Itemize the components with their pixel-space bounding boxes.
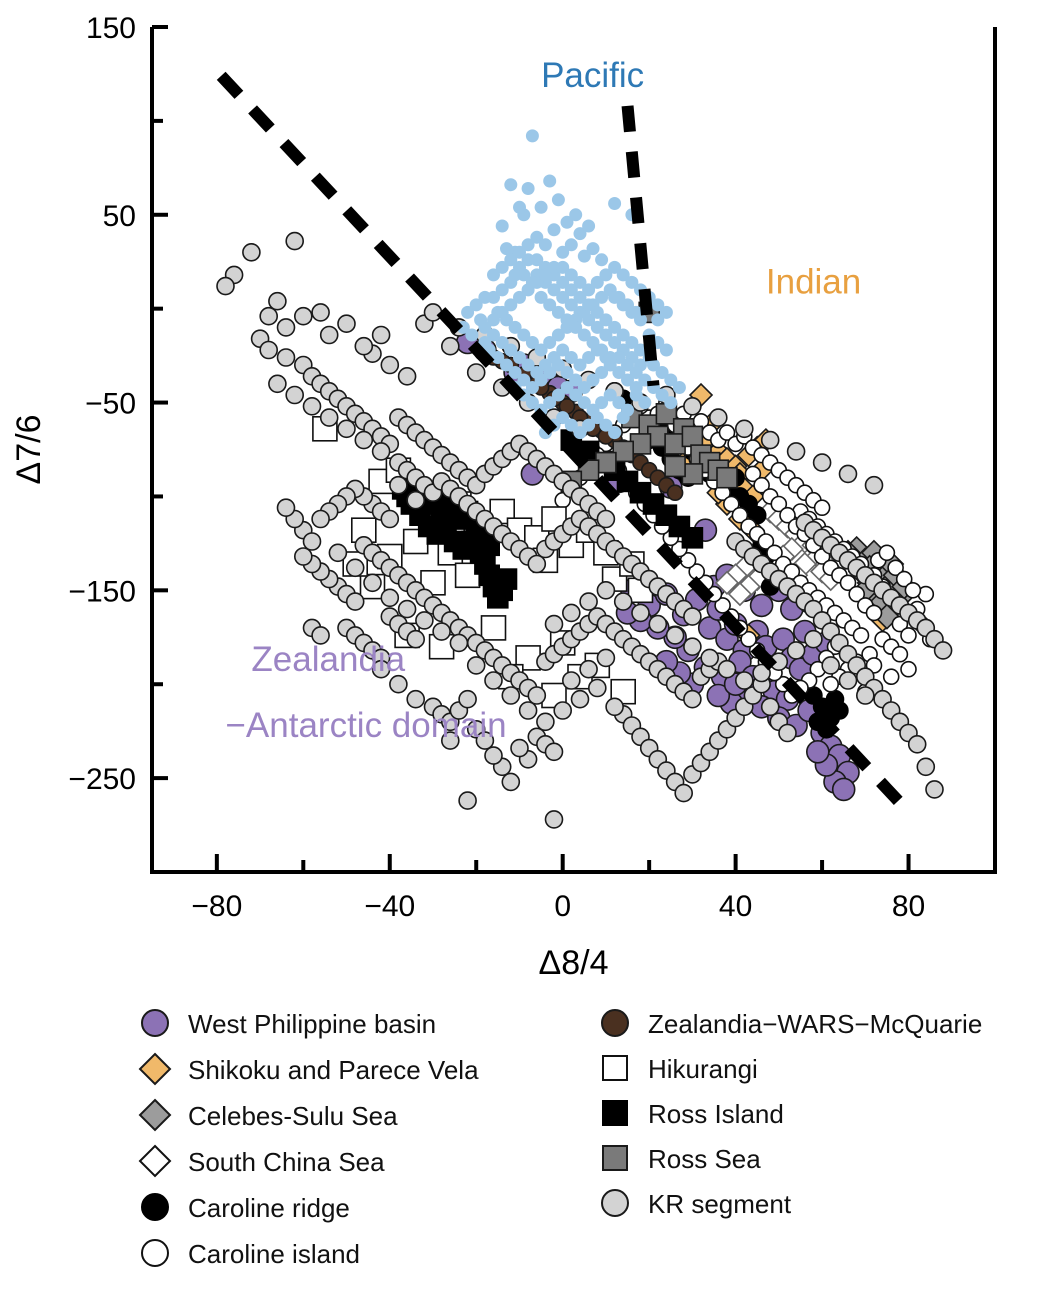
data-point xyxy=(321,327,338,344)
data-point xyxy=(554,702,571,719)
data-point xyxy=(487,313,500,326)
data-point xyxy=(416,612,433,629)
data-point xyxy=(884,669,899,684)
legend-label: Ross Sea xyxy=(648,1144,761,1174)
data-point xyxy=(535,201,548,214)
legend-layer: West Philippine basinShikoku and Parece … xyxy=(140,1009,982,1269)
legend-label: Celebes-Sulu Sea xyxy=(188,1101,398,1131)
legend-item-ross-sea[interactable]: Ross Sea xyxy=(603,1144,761,1174)
data-point xyxy=(608,291,621,304)
legend-item-zealandia-wars-mcquarie[interactable]: Zealandia−WARS−McQuarie xyxy=(602,1009,982,1039)
data-point xyxy=(684,638,701,655)
legend-marker-diamond-icon xyxy=(140,1146,170,1176)
axes-layer: 15050−50−150−250−80−4004080Δ8/4Δ7/6 xyxy=(10,12,995,982)
data-point xyxy=(329,544,346,561)
legend-item-shikoku-and-parece-vela[interactable]: Shikoku and Parece Vela xyxy=(140,1054,479,1085)
data-point xyxy=(892,647,907,662)
data-point xyxy=(815,500,830,515)
data-point xyxy=(668,485,683,500)
data-point xyxy=(269,293,286,310)
data-point xyxy=(814,454,831,471)
data-point xyxy=(684,608,701,625)
data-point xyxy=(522,182,535,195)
data-point xyxy=(606,698,623,715)
data-point xyxy=(511,740,528,757)
data-point xyxy=(347,559,364,576)
annotation-zealandia: Zealandia xyxy=(251,640,405,679)
legend-item-celebes-sulu-sea[interactable]: Celebes-Sulu Sea xyxy=(140,1100,398,1131)
data-point xyxy=(840,465,857,482)
data-point xyxy=(543,175,556,188)
data-point xyxy=(355,338,372,355)
legend-marker-circle-icon xyxy=(142,1010,168,1036)
data-point xyxy=(485,672,502,689)
data-point xyxy=(736,420,753,437)
data-point xyxy=(917,758,934,775)
data-point xyxy=(589,680,606,697)
data-point xyxy=(701,649,718,666)
data-point xyxy=(381,589,398,606)
data-point xyxy=(548,223,561,236)
legend-label: South China Sea xyxy=(188,1147,385,1177)
annotation-pacific: Pacific xyxy=(541,56,644,95)
annotation-indian: Indian xyxy=(766,263,861,302)
data-point xyxy=(355,432,372,449)
data-point xyxy=(866,477,883,494)
data-point xyxy=(539,238,552,251)
data-point xyxy=(664,396,677,409)
data-point xyxy=(762,698,779,715)
chart-page: 15050−50−150−250−80−4004080Δ8/4Δ7/6 Paci… xyxy=(0,0,1042,1304)
legend-label: Ross Island xyxy=(648,1099,784,1129)
data-point xyxy=(595,253,608,266)
data-point xyxy=(500,242,513,255)
data-point xyxy=(381,357,398,374)
data-point xyxy=(751,594,773,616)
data-point xyxy=(935,642,952,659)
legend-marker-circle-icon xyxy=(142,1194,168,1220)
data-point xyxy=(857,687,874,704)
data-point xyxy=(243,244,260,261)
data-point xyxy=(338,315,355,332)
data-point xyxy=(572,691,589,708)
data-point xyxy=(617,411,630,424)
legend-item-hikurangi[interactable]: Hikurangi xyxy=(603,1054,758,1084)
data-point xyxy=(546,811,563,828)
data-point xyxy=(905,583,920,598)
data-point xyxy=(269,375,286,392)
data-point xyxy=(364,574,381,591)
data-point xyxy=(425,304,442,321)
data-point xyxy=(632,604,649,621)
legend-item-caroline-island[interactable]: Caroline island xyxy=(142,1239,360,1269)
data-point xyxy=(615,593,632,610)
data-point xyxy=(509,268,522,281)
data-point xyxy=(468,364,485,381)
data-point xyxy=(450,634,467,651)
data-point xyxy=(580,593,597,610)
y-tick-label: 50 xyxy=(103,200,136,233)
data-point xyxy=(407,492,424,509)
data-point xyxy=(608,197,621,210)
data-point xyxy=(304,533,321,550)
data-point xyxy=(546,616,563,633)
data-point xyxy=(530,253,543,266)
data-point xyxy=(879,545,894,560)
data-point xyxy=(684,398,701,415)
data-point xyxy=(497,569,517,589)
annotation-antarctic-domain: −Antarctic domain xyxy=(225,706,506,745)
legend-label: Caroline island xyxy=(188,1239,360,1269)
legend-label: Caroline ridge xyxy=(188,1193,350,1223)
data-point xyxy=(312,511,329,528)
legend-label: Zealandia−WARS−McQuarie xyxy=(648,1009,982,1039)
data-point xyxy=(682,528,702,548)
data-point xyxy=(788,642,805,659)
legend-label: West Philippine basin xyxy=(188,1009,436,1039)
data-point xyxy=(582,220,595,233)
data-point xyxy=(528,556,545,573)
data-point xyxy=(478,291,491,304)
legend-marker-diamond-icon xyxy=(140,1100,170,1130)
data-point xyxy=(399,368,416,385)
data-point xyxy=(833,778,855,800)
data-point xyxy=(649,616,666,633)
data-point xyxy=(381,511,398,528)
data-point xyxy=(217,278,234,295)
data-point xyxy=(399,601,416,618)
data-point xyxy=(504,178,517,191)
data-point xyxy=(580,661,597,678)
legend-marker-circle-icon xyxy=(602,1190,628,1216)
data-point xyxy=(321,409,338,426)
legend-marker-square-icon xyxy=(603,1146,627,1170)
data-point xyxy=(604,351,617,364)
data-point xyxy=(717,468,737,488)
data-point xyxy=(373,443,390,460)
data-point xyxy=(278,319,295,336)
x-tick-label: −40 xyxy=(364,890,415,923)
legend-item-kr-segment[interactable]: KR segment xyxy=(602,1189,792,1219)
data-point xyxy=(660,344,673,357)
data-point xyxy=(565,238,578,251)
data-point xyxy=(442,338,459,355)
data-point xyxy=(684,691,701,708)
data-point xyxy=(295,548,312,565)
data-point xyxy=(528,687,545,704)
data-point xyxy=(831,702,848,719)
legend-marker-diamond-icon xyxy=(140,1054,170,1084)
data-point xyxy=(660,306,673,319)
y-tick-label: 150 xyxy=(86,12,136,45)
data-point xyxy=(278,499,295,516)
data-point xyxy=(597,511,614,528)
y-tick-label: −150 xyxy=(68,575,136,608)
data-point xyxy=(563,672,580,689)
legend-label: Hikurangi xyxy=(648,1054,758,1084)
data-point xyxy=(546,743,563,760)
data-point xyxy=(901,662,916,677)
legend-item-west-philippine-basin[interactable]: West Philippine basin xyxy=(142,1009,436,1039)
x-axis-title: Δ8/4 xyxy=(539,944,609,982)
data-point xyxy=(522,238,535,251)
data-point xyxy=(513,201,526,214)
data-point xyxy=(665,456,685,476)
data-point xyxy=(807,741,829,763)
data-point xyxy=(597,582,614,599)
data-point xyxy=(461,306,474,319)
data-point xyxy=(630,381,643,394)
data-point xyxy=(901,628,916,643)
data-point xyxy=(502,687,519,704)
data-point xyxy=(710,409,727,426)
data-point xyxy=(682,426,702,446)
x-tick-label: −80 xyxy=(191,890,242,923)
data-point xyxy=(563,604,580,621)
data-point xyxy=(468,657,485,674)
data-point xyxy=(805,631,822,648)
data-point xyxy=(840,672,857,689)
data-point xyxy=(260,342,277,359)
y-axis-title: Δ7/6 xyxy=(10,415,48,485)
legend-item-caroline-ridge[interactable]: Caroline ridge xyxy=(142,1193,350,1223)
data-point xyxy=(552,193,565,206)
data-point xyxy=(823,677,838,692)
legend-label: KR segment xyxy=(648,1189,792,1219)
data-point xyxy=(673,381,686,394)
data-point xyxy=(433,623,450,640)
data-point xyxy=(788,443,805,460)
data-point xyxy=(459,792,476,809)
data-point xyxy=(373,327,390,344)
x-tick-label: 0 xyxy=(554,890,571,923)
series-pacific-morb xyxy=(457,129,686,439)
data-point xyxy=(304,398,321,415)
data-point xyxy=(347,593,364,610)
x-tick-label: 80 xyxy=(892,890,925,923)
data-point xyxy=(762,432,779,449)
data-point xyxy=(569,208,582,221)
data-point xyxy=(909,736,926,753)
data-point xyxy=(278,349,295,366)
data-point xyxy=(675,785,692,802)
data-point xyxy=(822,657,839,674)
data-point xyxy=(736,672,753,689)
data-point xyxy=(286,233,303,250)
data-point xyxy=(587,242,600,255)
data-point xyxy=(496,220,509,233)
legend-label: Shikoku and Parece Vela xyxy=(188,1055,479,1085)
data-point xyxy=(338,420,355,437)
y-tick-label: −250 xyxy=(68,763,136,796)
y-tick-label: −50 xyxy=(85,388,136,421)
data-point xyxy=(482,616,506,640)
data-point xyxy=(312,304,329,321)
data-point xyxy=(260,308,277,325)
data-point xyxy=(295,308,312,325)
legend-marker-circle-icon xyxy=(142,1240,168,1266)
data-point xyxy=(608,426,621,439)
data-point xyxy=(597,649,614,666)
data-point xyxy=(867,605,882,620)
data-point xyxy=(854,628,869,643)
data-point xyxy=(537,713,554,730)
data-point xyxy=(474,313,487,326)
data-point xyxy=(667,627,684,644)
legend-item-ross-island[interactable]: Ross Island xyxy=(603,1099,784,1129)
legend-marker-square-icon xyxy=(603,1056,627,1080)
legend-marker-square-icon xyxy=(603,1101,627,1125)
legend-item-south-china-sea[interactable]: South China Sea xyxy=(140,1146,385,1177)
data-point xyxy=(485,747,502,764)
x-tick-label: 40 xyxy=(719,890,752,923)
data-point xyxy=(407,631,424,648)
data-point xyxy=(520,702,537,719)
legend-marker-circle-icon xyxy=(602,1010,628,1036)
data-point xyxy=(719,661,736,678)
data-point xyxy=(926,781,943,798)
scatter-plot-figure: 15050−50−150−250−80−4004080Δ8/4Δ7/6 Paci… xyxy=(0,0,1042,1304)
data-point xyxy=(390,477,407,494)
data-point xyxy=(779,725,796,742)
data-point xyxy=(286,387,303,404)
data-point xyxy=(502,773,519,790)
data-point xyxy=(526,129,539,142)
